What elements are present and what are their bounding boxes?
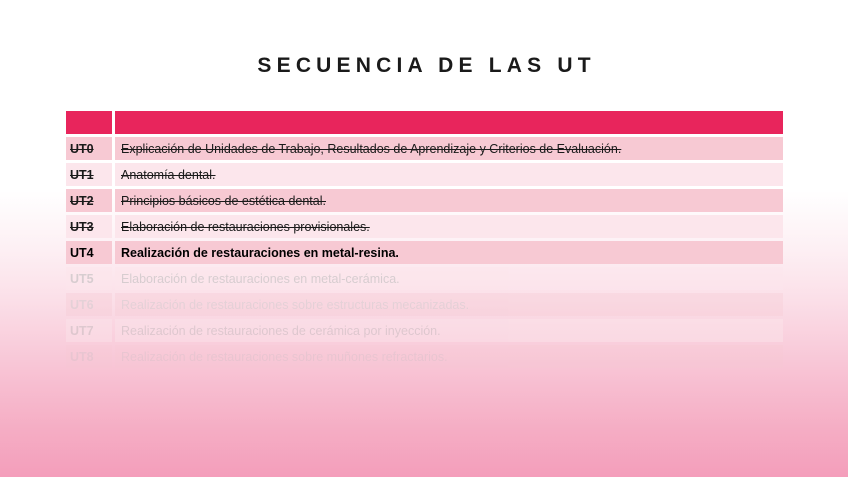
row-description: Elaboración de restauraciones en metal-c…: [115, 267, 783, 290]
table-row[interactable]: UT3 Elaboración de restauraciones provis…: [66, 215, 783, 238]
row-code: UT1: [66, 163, 112, 186]
slide-canvas: SECUENCIA DE LAS UT UT0 Explicación de U…: [0, 0, 848, 477]
table-row[interactable]: UT6 Realización de restauraciones sobre …: [66, 293, 783, 316]
row-code: UT2: [66, 189, 112, 212]
table-row[interactable]: UT2 Principios básicos de estética denta…: [66, 189, 783, 212]
table-row[interactable]: UT7 Realización de restauraciones de cer…: [66, 319, 783, 342]
row-description: Realización de restauraciones sobre muño…: [115, 345, 783, 368]
row-description: Anatomía dental.: [115, 163, 783, 186]
table-header-row: [66, 111, 783, 134]
row-description: Explicación de Unidades de Trabajo, Resu…: [115, 137, 783, 160]
row-code: UT6: [66, 293, 112, 316]
row-description: Realización de restauraciones sobre estr…: [115, 293, 783, 316]
row-code: UT3: [66, 215, 112, 238]
row-description: Elaboración de restauraciones provisiona…: [115, 215, 783, 238]
table-row[interactable]: UT8 Realización de restauraciones sobre …: [66, 345, 783, 368]
ut-sequence-table: UT0 Explicación de Unidades de Trabajo, …: [66, 111, 783, 371]
row-description: Realización de restauraciones en metal-r…: [115, 241, 783, 264]
table-row-current[interactable]: UT4 Realización de restauraciones en met…: [66, 241, 783, 264]
table-row[interactable]: UT1 Anatomía dental.: [66, 163, 783, 186]
row-description: Principios básicos de estética dental.: [115, 189, 783, 212]
page-title: SECUENCIA DE LAS UT: [0, 53, 848, 79]
row-description: Realización de restauraciones de cerámic…: [115, 319, 783, 342]
table-row[interactable]: UT0 Explicación de Unidades de Trabajo, …: [66, 137, 783, 160]
row-code: UT4: [66, 241, 112, 264]
row-code: UT5: [66, 267, 112, 290]
table-row[interactable]: UT5 Elaboración de restauraciones en met…: [66, 267, 783, 290]
row-code: UT0: [66, 137, 112, 160]
row-code: UT7: [66, 319, 112, 342]
table-header-cell-description: [115, 111, 783, 134]
row-code: UT8: [66, 345, 112, 368]
table-header-cell-code: [66, 111, 112, 134]
